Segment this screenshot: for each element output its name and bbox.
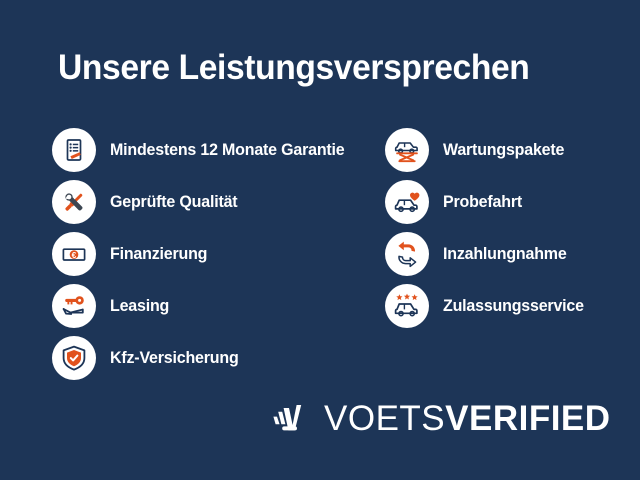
benefit-item-qualitaet: Geprüfte Qualität [52,180,382,224]
car-stars-icon [385,284,429,328]
shield-check-icon [52,336,96,380]
benefit-item-wartungspakete: Wartungspakete [385,128,635,172]
euro-banknote-icon: € [52,232,96,276]
benefit-item-garantie: Mindestens 12 Monate Garantie [52,128,382,172]
car-heart-icon [385,180,429,224]
benefit-label: Inzahlungnahme [443,245,567,264]
page-title: Unsere Leistungsversprechen [58,48,576,88]
wrench-screwdriver-icon [52,180,96,224]
key-in-hand-icon [52,284,96,328]
logo-word-verified: VERIFIED [445,399,610,438]
benefit-item-inzahlungnahme: Inzahlungnahme [385,232,635,276]
voets-v-checkmark-icon [268,396,314,442]
svg-text:€: € [72,250,77,260]
benefit-label: Geprüfte Qualität [110,193,237,212]
benefits-column-right: Wartungspakete Probefahrt [385,128,635,336]
benefit-label: Zulassungsservice [443,297,584,316]
certificate-document-icon [52,128,96,172]
logo-word-voets: VOETS [324,399,445,438]
benefits-column-left: Mindestens 12 Monate Garantie [52,128,382,388]
benefit-label: Kfz-Versicherung [110,349,239,368]
promo-banner: Unsere Leistungsversprechen Mindestens 1… [0,0,640,480]
benefit-label: Mindestens 12 Monate Garantie [110,141,345,160]
benefit-label: Finanzierung [110,245,207,264]
benefit-item-leasing: Leasing [52,284,382,328]
benefit-item-versicherung: Kfz-Versicherung [52,336,382,380]
benefit-item-probefahrt: Probefahrt [385,180,635,224]
benefit-item-finanzierung: € Finanzierung [52,232,382,276]
logo-wordmark: VOETSVERIFIED [324,400,611,438]
exchange-arrows-icon [385,232,429,276]
brand-logo: VOETSVERIFIED [268,396,611,442]
benefit-item-zulassungsservice: Zulassungsservice [385,284,635,328]
car-on-lift-icon [385,128,429,172]
benefit-label: Leasing [110,297,169,316]
benefit-label: Wartungspakete [443,141,564,160]
benefit-label: Probefahrt [443,193,522,212]
